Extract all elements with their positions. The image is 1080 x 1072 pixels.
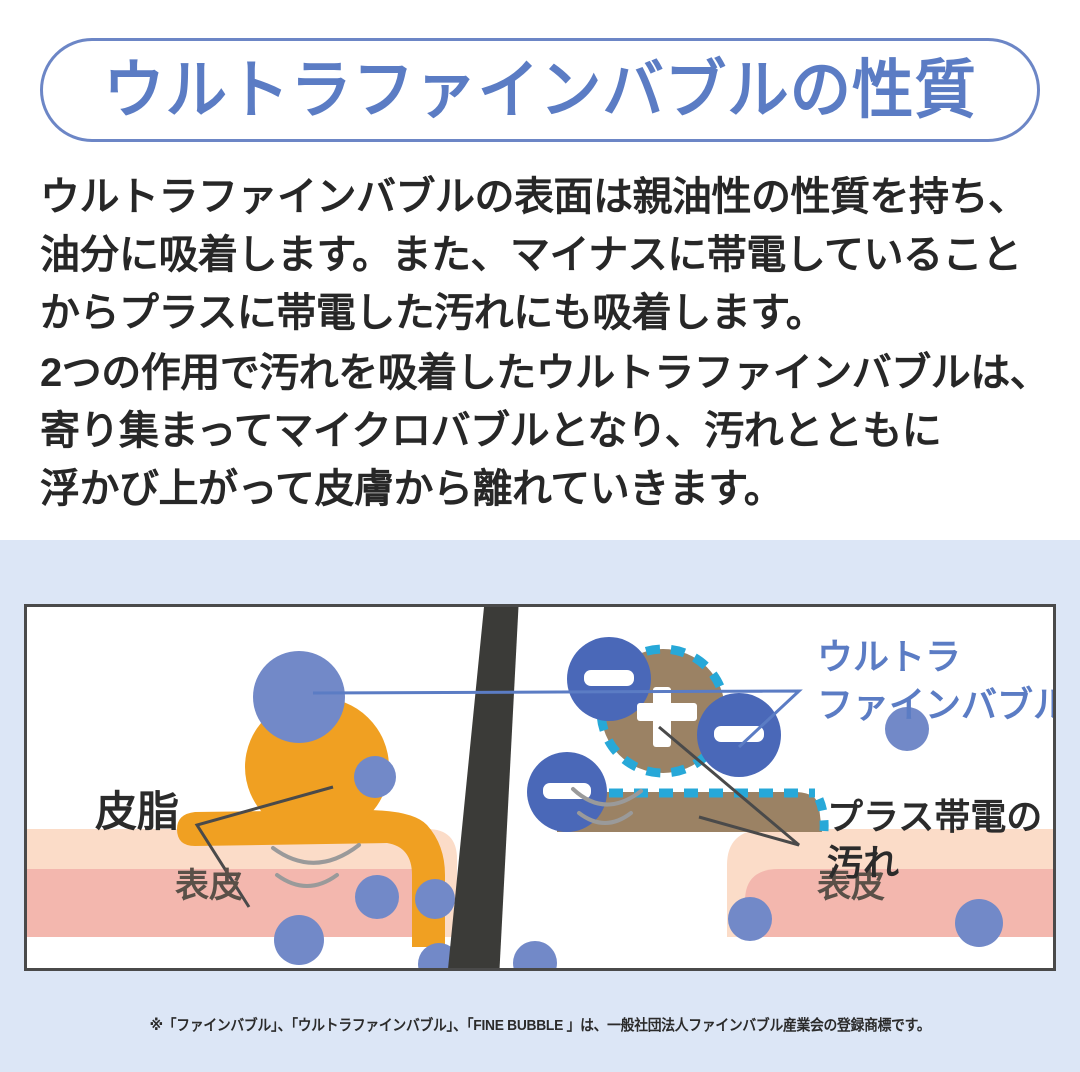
center-divider [447,607,519,968]
ultrafine-bubble-small-attached [354,756,396,798]
paragraph-1-line-2: 油分に吸着します。また、マイナスに帯電していること [40,226,1050,284]
minus-sign [584,670,634,686]
ultrafine-bubble-large [253,651,345,743]
page-title-pill: ウルトラファインバブルの性質 [40,38,1040,142]
page-title: ウルトラファインバブルの性質 [103,58,977,122]
body-copy: ウルトラファインバブルの表面は親油性の性質を持ち、 油分に吸着します。また、マイ… [40,168,1050,518]
label-sebum: 皮脂 [95,788,179,835]
paragraph-2-line-2: 寄り集まってマイクロバブルとなり、汚れとともに [40,402,1050,460]
label-ultrafine-bubble-line2: ファインバブル [817,684,1053,725]
label-plus-dirt-line1: プラス帯電の [827,796,1042,837]
bubble [513,941,557,968]
label-epidermis-left: 表皮 [175,867,243,905]
paragraph-1-line-1: ウルトラファインバブルの表面は親油性の性質を持ち、 [40,168,1050,226]
diagram-section: 皮脂 表皮 表皮 ウルトラ ファインバブル プラス帯電の 汚れ ※「ファインバブ… [0,540,1080,1072]
paragraph-2-line-3: 浮かび上がって皮膚から離れていきます。 [40,460,1050,518]
paragraph-1-line-3: からプラスに帯電した汚れにも吸着します。 [40,284,1050,342]
label-ultrafine-bubble-line1: ウルトラ [817,636,961,677]
illustration-svg: 皮脂 表皮 表皮 ウルトラ ファインバブル プラス帯電の 汚れ [27,607,1053,968]
footnote: ※「ファインバブル」、「ウルトラファインバブル」、「FINE BUBBLE 」は… [43,1014,1037,1035]
bubble [728,897,772,941]
sebum-blob-rising [245,651,396,837]
illustration-panel: 皮脂 表皮 表皮 ウルトラ ファインバブル プラス帯電の 汚れ [24,604,1056,971]
minus-sign [714,726,764,742]
bubble [415,879,455,919]
dirt-particle-cluster [567,637,781,777]
bubble-minus-right [697,693,781,777]
label-plus-dirt-line2: 汚れ [827,842,899,883]
bubble [955,899,1003,947]
paragraph-2-line-1: 2つの作用で汚れを吸着したウルトラファインバブルは、 [40,344,1050,402]
bubble [274,915,324,965]
bubble [355,875,399,919]
